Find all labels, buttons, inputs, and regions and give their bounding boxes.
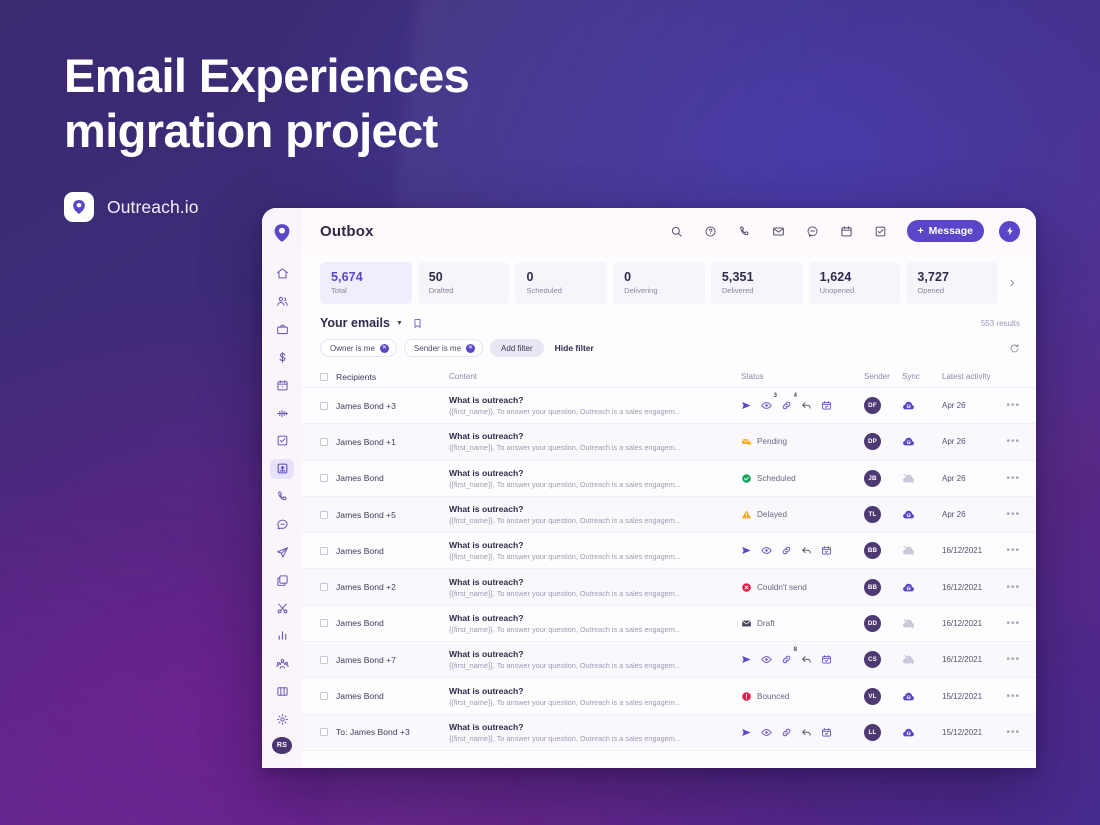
- send-icon[interactable]: [741, 654, 752, 665]
- view-name: Your emails: [320, 316, 390, 330]
- refresh-icon[interactable]: [1009, 343, 1020, 354]
- sidebar-item-send[interactable]: [270, 542, 294, 562]
- status-cell: Scheduled: [741, 473, 864, 484]
- email-content: What is outreach?{{first_name}}, To answ…: [449, 577, 741, 598]
- sync-cell: [902, 399, 942, 412]
- stat-value: 1,624: [820, 270, 891, 284]
- cloud-up-icon[interactable]: [902, 581, 915, 594]
- sender-cell: DF: [864, 397, 902, 414]
- stat-card-opened[interactable]: 3,727 Opened: [906, 262, 998, 304]
- recipient-name: James Bond +7: [336, 655, 449, 665]
- recipient-name: James Bond: [336, 473, 449, 483]
- chevron-down-icon: ▼: [396, 320, 403, 327]
- email-preview: {{first_name}}, To answer your question,…: [449, 552, 729, 561]
- email-content: What is outreach?{{first_name}}, To answ…: [449, 613, 741, 634]
- sidebar-item-reports[interactable]: [270, 626, 294, 646]
- recipient-name: James Bond +2: [336, 582, 449, 592]
- sync-cell: [902, 690, 942, 703]
- plus-icon: +: [918, 225, 924, 237]
- avatar[interactable]: LL: [864, 724, 881, 741]
- help-icon[interactable]: [699, 219, 723, 243]
- avatar[interactable]: DF: [864, 397, 881, 414]
- emails-table: Recipients Content Status Sender Sync La…: [302, 366, 1036, 768]
- bounced-icon: [741, 691, 752, 702]
- sender-cell: BB: [864, 542, 902, 559]
- status-badge: Couldn't send: [757, 583, 807, 592]
- table-header-row: Recipients Content Status Sender Sync La…: [302, 366, 1036, 388]
- sidebar-item-home[interactable]: [270, 264, 294, 284]
- page-title: Email Experiences migration project: [64, 48, 584, 158]
- latest-activity: Apr 26: [942, 401, 998, 410]
- stats-bar: 5,674 Total 50 Drafted 0 Scheduled 0 Del…: [302, 254, 1036, 310]
- email-subject: What is outreach?: [449, 431, 729, 441]
- select-all-checkbox[interactable]: [320, 373, 336, 381]
- stat-card-delivered[interactable]: 5,351 Delivered: [711, 262, 803, 304]
- filter-chip-sender[interactable]: Sender is me ✕: [404, 339, 483, 357]
- row-checkbox[interactable]: [320, 583, 336, 591]
- email-subject: What is outreach?: [449, 577, 729, 587]
- stat-card-drafted[interactable]: 50 Drafted: [418, 262, 510, 304]
- email-preview: {{first_name}}, To answer your question,…: [449, 661, 729, 670]
- more-icon[interactable]: •••: [998, 509, 1020, 520]
- row-checkbox[interactable]: [320, 438, 336, 446]
- table-row[interactable]: James Bond +5What is outreach?{{first_na…: [302, 497, 1036, 533]
- recipient-name: To: James Bond +3: [336, 727, 449, 737]
- hero-title-line-2: migration project: [64, 104, 438, 157]
- sender-cell: JB: [864, 470, 902, 487]
- mail-icon[interactable]: [767, 219, 791, 243]
- sync-cell: [902, 726, 942, 739]
- sidebar-item-sequences[interactable]: [270, 403, 294, 423]
- reply-icon[interactable]: [801, 727, 812, 738]
- stat-value: 5,674: [331, 270, 402, 284]
- row-checkbox[interactable]: [320, 619, 336, 627]
- topbar: Outbox +: [302, 208, 1036, 254]
- email-subject: What is outreach?: [449, 686, 729, 696]
- stat-value: 3,727: [917, 270, 988, 284]
- table-row[interactable]: James BondWhat is outreach?{{first_name}…: [302, 461, 1036, 497]
- cloud-up-icon[interactable]: [902, 435, 915, 448]
- avatar[interactable]: CS: [864, 651, 881, 668]
- status-badge: Draft: [757, 619, 775, 628]
- sender-cell: CS: [864, 651, 902, 668]
- link-icon[interactable]: 8: [781, 654, 792, 665]
- latest-activity: 15/12/2021: [942, 692, 998, 701]
- status-cell: Draft: [741, 618, 864, 629]
- sidebar-item-opportunities[interactable]: [270, 348, 294, 368]
- email-subject: What is outreach?: [449, 504, 729, 514]
- engagement-icons: 8: [741, 654, 832, 665]
- app-window: RS Outbox: [262, 208, 1036, 768]
- recipient-name: James Bond: [336, 691, 449, 701]
- stat-card-delivering[interactable]: 0 Delivering: [613, 262, 705, 304]
- sync-cell: [902, 544, 942, 557]
- link-icon[interactable]: [781, 727, 792, 738]
- latest-activity: 16/12/2021: [942, 546, 998, 555]
- stat-card-total[interactable]: 5,674 Total: [320, 262, 412, 304]
- status-badge: Bounced: [757, 692, 789, 701]
- table-row[interactable]: To: James Bond +3What is outreach?{{firs…: [302, 715, 1036, 751]
- filter-chip-label: Owner is me: [330, 344, 375, 353]
- link-icon[interactable]: 4: [781, 400, 792, 411]
- calendar-check-icon[interactable]: [821, 545, 832, 556]
- close-icon[interactable]: ✕: [380, 344, 389, 353]
- email-preview: {{first_name}}, To answer your question,…: [449, 516, 729, 525]
- cloud-up-icon[interactable]: [902, 690, 915, 703]
- row-checkbox[interactable]: [320, 402, 336, 410]
- email-content: What is outreach?{{first_name}}, To answ…: [449, 649, 741, 670]
- email-subject: What is outreach?: [449, 540, 729, 550]
- search-icon[interactable]: [665, 219, 689, 243]
- latest-activity: 16/12/2021: [942, 655, 998, 664]
- email-content: What is outreach?{{first_name}}, To answ…: [449, 468, 741, 489]
- more-icon[interactable]: •••: [998, 727, 1020, 738]
- stat-label: Total: [331, 286, 402, 295]
- sidebar-item-accounts[interactable]: [270, 320, 294, 340]
- status-cell: Bounced: [741, 691, 864, 702]
- sidebar-item-playbooks[interactable]: [270, 682, 294, 702]
- cloud-off-icon[interactable]: [902, 544, 915, 557]
- cloud-off-icon[interactable]: [902, 472, 915, 485]
- avatar[interactable]: BB: [864, 542, 881, 559]
- email-content: What is outreach?{{first_name}}, To answ…: [449, 722, 741, 743]
- table-row[interactable]: James Bond +3What is outreach?{{first_na…: [302, 388, 1036, 424]
- email-content: What is outreach?{{first_name}}, To answ…: [449, 431, 741, 452]
- status-badge: Scheduled: [757, 474, 796, 483]
- recipient-name: James Bond +5: [336, 510, 449, 520]
- filter-chip-label: Sender is me: [414, 344, 461, 353]
- recipient-name: James Bond: [336, 546, 449, 556]
- sidebar-item-templates[interactable]: [270, 570, 294, 590]
- stat-label: Scheduled: [526, 286, 597, 295]
- recipient-name: James Bond +3: [336, 401, 449, 411]
- reply-icon[interactable]: [801, 654, 812, 665]
- recipient-name: James Bond: [336, 618, 449, 628]
- email-subject: What is outreach?: [449, 649, 729, 659]
- email-preview: {{first_name}}, To answer your question,…: [449, 480, 729, 489]
- link-icon[interactable]: [781, 545, 792, 556]
- chevron-right-icon[interactable]: [1004, 262, 1020, 304]
- more-icon[interactable]: •••: [998, 691, 1020, 702]
- reply-icon[interactable]: [801, 545, 812, 556]
- table-row[interactable]: James Bond +7What is outreach?{{first_na…: [302, 642, 1036, 678]
- outbox-title: Outbox: [320, 223, 374, 240]
- filter-chip-owner[interactable]: Owner is me ✕: [320, 339, 397, 357]
- sender-cell: DP: [864, 433, 902, 450]
- calendar-check-icon[interactable]: [821, 400, 832, 411]
- more-icon[interactable]: •••: [998, 436, 1020, 447]
- stat-value: 50: [429, 270, 500, 284]
- avatar[interactable]: DD: [864, 615, 881, 632]
- sidebar-item-calls[interactable]: [270, 487, 294, 507]
- bookmark-icon[interactable]: [412, 318, 423, 329]
- close-icon[interactable]: ✕: [466, 344, 475, 353]
- sync-cell: [902, 472, 942, 485]
- eye-icon[interactable]: 3: [761, 400, 772, 411]
- status-cell: 8: [741, 654, 864, 665]
- outreach-logo-icon: [64, 192, 94, 222]
- pending-icon: [741, 436, 752, 447]
- engagement-icons: 34: [741, 400, 832, 411]
- hero-title-line-1: Email Experiences: [64, 49, 469, 102]
- stat-value: 0: [624, 270, 695, 284]
- filter-header: Your emails ▼ 553 results: [302, 310, 1036, 332]
- sidebar-item-prospects[interactable]: [270, 292, 294, 312]
- engagement-icons: [741, 727, 832, 738]
- more-icon[interactable]: •••: [998, 545, 1020, 556]
- status-cell: [741, 727, 864, 738]
- sync-cell: [902, 617, 942, 630]
- more-icon[interactable]: •••: [998, 400, 1020, 411]
- sidebar-item-messages[interactable]: [270, 515, 294, 535]
- sender-cell: DD: [864, 615, 902, 632]
- status-cell: 34: [741, 400, 864, 411]
- stat-card-scheduled[interactable]: 0 Scheduled: [515, 262, 607, 304]
- engagement-icons: [741, 545, 832, 556]
- send-icon[interactable]: [741, 400, 752, 411]
- chat-icon[interactable]: [801, 219, 825, 243]
- status-cell: Couldn't send: [741, 582, 864, 593]
- stat-value: 0: [526, 270, 597, 284]
- avatar[interactable]: TL: [864, 506, 881, 523]
- icon-badge-count: 8: [794, 647, 797, 653]
- more-icon[interactable]: •••: [998, 582, 1020, 593]
- icon-badge-count: 4: [794, 393, 797, 399]
- email-subject: What is outreach?: [449, 722, 729, 732]
- stat-value: 5,351: [722, 270, 793, 284]
- task-check-icon[interactable]: [869, 219, 893, 243]
- sync-cell: [902, 581, 942, 594]
- calendar-icon[interactable]: [835, 219, 859, 243]
- new-message-label: Message: [929, 225, 973, 237]
- sidebar-item-outbox[interactable]: [270, 459, 294, 479]
- email-subject: What is outreach?: [449, 395, 729, 405]
- column-header-content: Content: [449, 372, 741, 381]
- stat-label: Delivering: [624, 286, 695, 295]
- warning-icon: [741, 509, 752, 520]
- stat-label: Unopened: [820, 286, 891, 295]
- sync-cell: [902, 435, 942, 448]
- table-row[interactable]: James BondWhat is outreach?{{first_name}…: [302, 678, 1036, 714]
- sidebar: RS: [262, 208, 302, 768]
- phone-icon[interactable]: [733, 219, 757, 243]
- status-badge: Delayed: [757, 510, 787, 519]
- email-subject: What is outreach?: [449, 468, 729, 478]
- email-preview: {{first_name}}, To answer your question,…: [449, 407, 729, 416]
- cloud-up-icon[interactable]: [902, 508, 915, 521]
- avatar[interactable]: JB: [864, 470, 881, 487]
- cloud-up-icon[interactable]: [902, 726, 915, 739]
- latest-activity: 15/12/2021: [942, 728, 998, 737]
- brand-name: Outreach.io: [107, 197, 199, 218]
- new-message-button[interactable]: + Message: [907, 220, 985, 242]
- table-body: James Bond +3What is outreach?{{first_na…: [302, 388, 1036, 768]
- email-content: What is outreach?{{first_name}}, To answ…: [449, 686, 741, 707]
- hide-filter-button[interactable]: Hide filter: [555, 343, 594, 353]
- table-row[interactable]: James BondWhat is outreach?{{first_name}…: [302, 533, 1036, 569]
- cloud-off-icon[interactable]: [902, 617, 915, 630]
- cloud-up-icon[interactable]: [902, 399, 915, 412]
- avatar[interactable]: RS: [272, 737, 292, 754]
- eye-icon[interactable]: [761, 654, 772, 665]
- latest-activity: 16/12/2021: [942, 583, 998, 592]
- more-icon[interactable]: •••: [998, 654, 1020, 665]
- email-subject: What is outreach?: [449, 613, 729, 623]
- row-checkbox[interactable]: [320, 692, 336, 700]
- column-header-recipients: Recipients: [336, 372, 449, 382]
- column-header-sync: Sync: [902, 372, 942, 381]
- hero-block: Email Experiences migration project Outr…: [64, 48, 584, 222]
- email-preview: {{first_name}}, To answer your question,…: [449, 698, 729, 707]
- column-header-sender: Sender: [864, 372, 902, 381]
- stat-label: Drafted: [429, 286, 500, 295]
- envelope-icon: [741, 618, 752, 629]
- row-checkbox[interactable]: [320, 511, 336, 519]
- sender-cell: BB: [864, 579, 902, 596]
- avatar[interactable]: DP: [864, 433, 881, 450]
- eye-icon[interactable]: [761, 727, 772, 738]
- filter-chips: Owner is me ✕ Sender is me ✕ Add filter …: [302, 332, 1036, 357]
- content-area: 5,674 Total 50 Drafted 0 Scheduled 0 Del…: [302, 254, 1036, 768]
- stat-card-unopened[interactable]: 1,624 Unopened: [809, 262, 901, 304]
- table-row[interactable]: James BondWhat is outreach?{{first_name}…: [302, 606, 1036, 642]
- add-filter-button[interactable]: Add filter: [490, 339, 544, 357]
- cloud-off-icon[interactable]: [902, 653, 915, 666]
- table-row[interactable]: James Bond +2What is outreach?{{first_na…: [302, 569, 1036, 605]
- sender-cell: LL: [864, 724, 902, 741]
- sync-cell: [902, 508, 942, 521]
- sidebar-item-settings[interactable]: [270, 710, 294, 730]
- row-checkbox[interactable]: [320, 728, 336, 736]
- results-count: 553 results: [981, 319, 1020, 328]
- row-checkbox[interactable]: [320, 474, 336, 482]
- column-header-status: Status: [741, 372, 864, 381]
- eye-icon[interactable]: [761, 545, 772, 556]
- icon-badge-count: 3: [774, 393, 777, 399]
- row-checkbox[interactable]: [320, 547, 336, 555]
- email-content: What is outreach?{{first_name}}, To answ…: [449, 540, 741, 561]
- email-preview: {{first_name}}, To answer your question,…: [449, 734, 729, 743]
- sender-cell: VL: [864, 688, 902, 705]
- sidebar-item-calendar[interactable]: [270, 375, 294, 395]
- send-icon[interactable]: [741, 727, 752, 738]
- send-icon[interactable]: [741, 545, 752, 556]
- check-circle-icon: [741, 473, 752, 484]
- avatar[interactable]: VL: [864, 688, 881, 705]
- status-badge: Pending: [757, 437, 787, 446]
- recipient-name: James Bond +1: [336, 437, 449, 447]
- latest-activity: Apr 26: [942, 437, 998, 446]
- table-row[interactable]: James Bond +1What is outreach?{{first_na…: [302, 424, 1036, 460]
- column-header-latest-activity: Latest activity: [942, 372, 998, 381]
- email-content: What is outreach?{{first_name}}, To answ…: [449, 395, 741, 416]
- email-preview: {{first_name}}, To answer your question,…: [449, 443, 729, 452]
- status-cell: Pending: [741, 436, 864, 447]
- sidebar-item-snippets[interactable]: [270, 598, 294, 618]
- stat-label: Delivered: [722, 286, 793, 295]
- sender-cell: TL: [864, 506, 902, 523]
- view-selector[interactable]: Your emails ▼: [320, 316, 403, 330]
- avatar[interactable]: BB: [864, 579, 881, 596]
- outreach-logo-icon[interactable]: [271, 222, 293, 244]
- stat-label: Opened: [917, 286, 988, 295]
- sidebar-item-tasks[interactable]: [270, 431, 294, 451]
- status-cell: [741, 545, 864, 556]
- more-icon[interactable]: •••: [998, 473, 1020, 484]
- more-icon[interactable]: •••: [998, 618, 1020, 629]
- row-checkbox[interactable]: [320, 656, 336, 664]
- calendar-check-icon[interactable]: [821, 727, 832, 738]
- calendar-check-icon[interactable]: [821, 654, 832, 665]
- email-preview: {{first_name}}, To answer your question,…: [449, 625, 729, 634]
- latest-activity: 16/12/2021: [942, 619, 998, 628]
- reply-icon[interactable]: [801, 400, 812, 411]
- sync-cell: [902, 653, 942, 666]
- email-content: What is outreach?{{first_name}}, To answ…: [449, 504, 741, 525]
- latest-activity: Apr 26: [942, 474, 998, 483]
- error-circle-icon: [741, 582, 752, 593]
- bolt-icon[interactable]: [999, 221, 1020, 242]
- latest-activity: Apr 26: [942, 510, 998, 519]
- status-cell: Delayed: [741, 509, 864, 520]
- main-area: Outbox +: [302, 208, 1036, 768]
- email-preview: {{first_name}}, To answer your question,…: [449, 589, 729, 598]
- sidebar-item-team[interactable]: [270, 654, 294, 674]
